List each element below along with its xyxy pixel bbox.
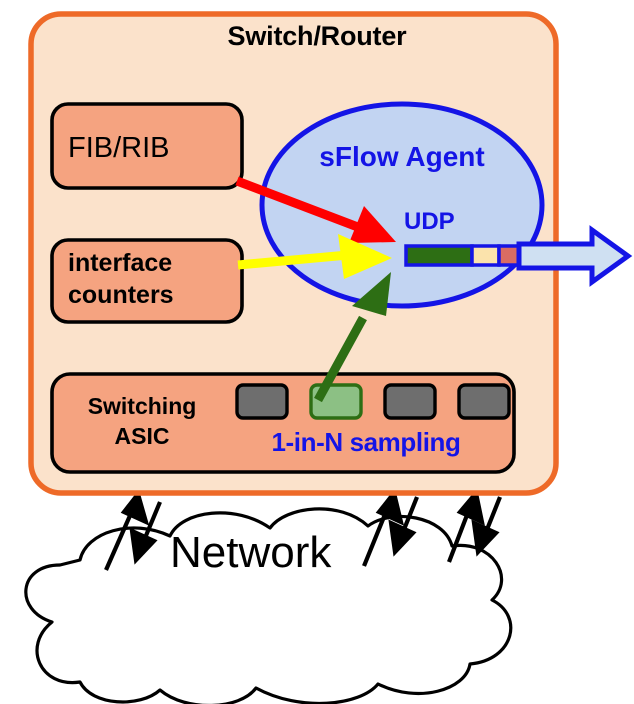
packet-3-unsampled	[385, 385, 435, 418]
diagram-illustration	[0, 0, 634, 704]
interface-counters-box	[52, 240, 242, 322]
udp-segment-payload	[406, 246, 472, 265]
udp-segment-header	[472, 246, 499, 265]
packet-4-unsampled	[459, 385, 509, 418]
packet-1-unsampled	[237, 385, 287, 418]
udp-datagram-bar	[406, 246, 524, 265]
fib-rib-box	[52, 104, 242, 188]
diagram-canvas: Switch/Router FIB/RIB interface counters…	[0, 0, 634, 704]
network-cloud	[26, 509, 511, 704]
